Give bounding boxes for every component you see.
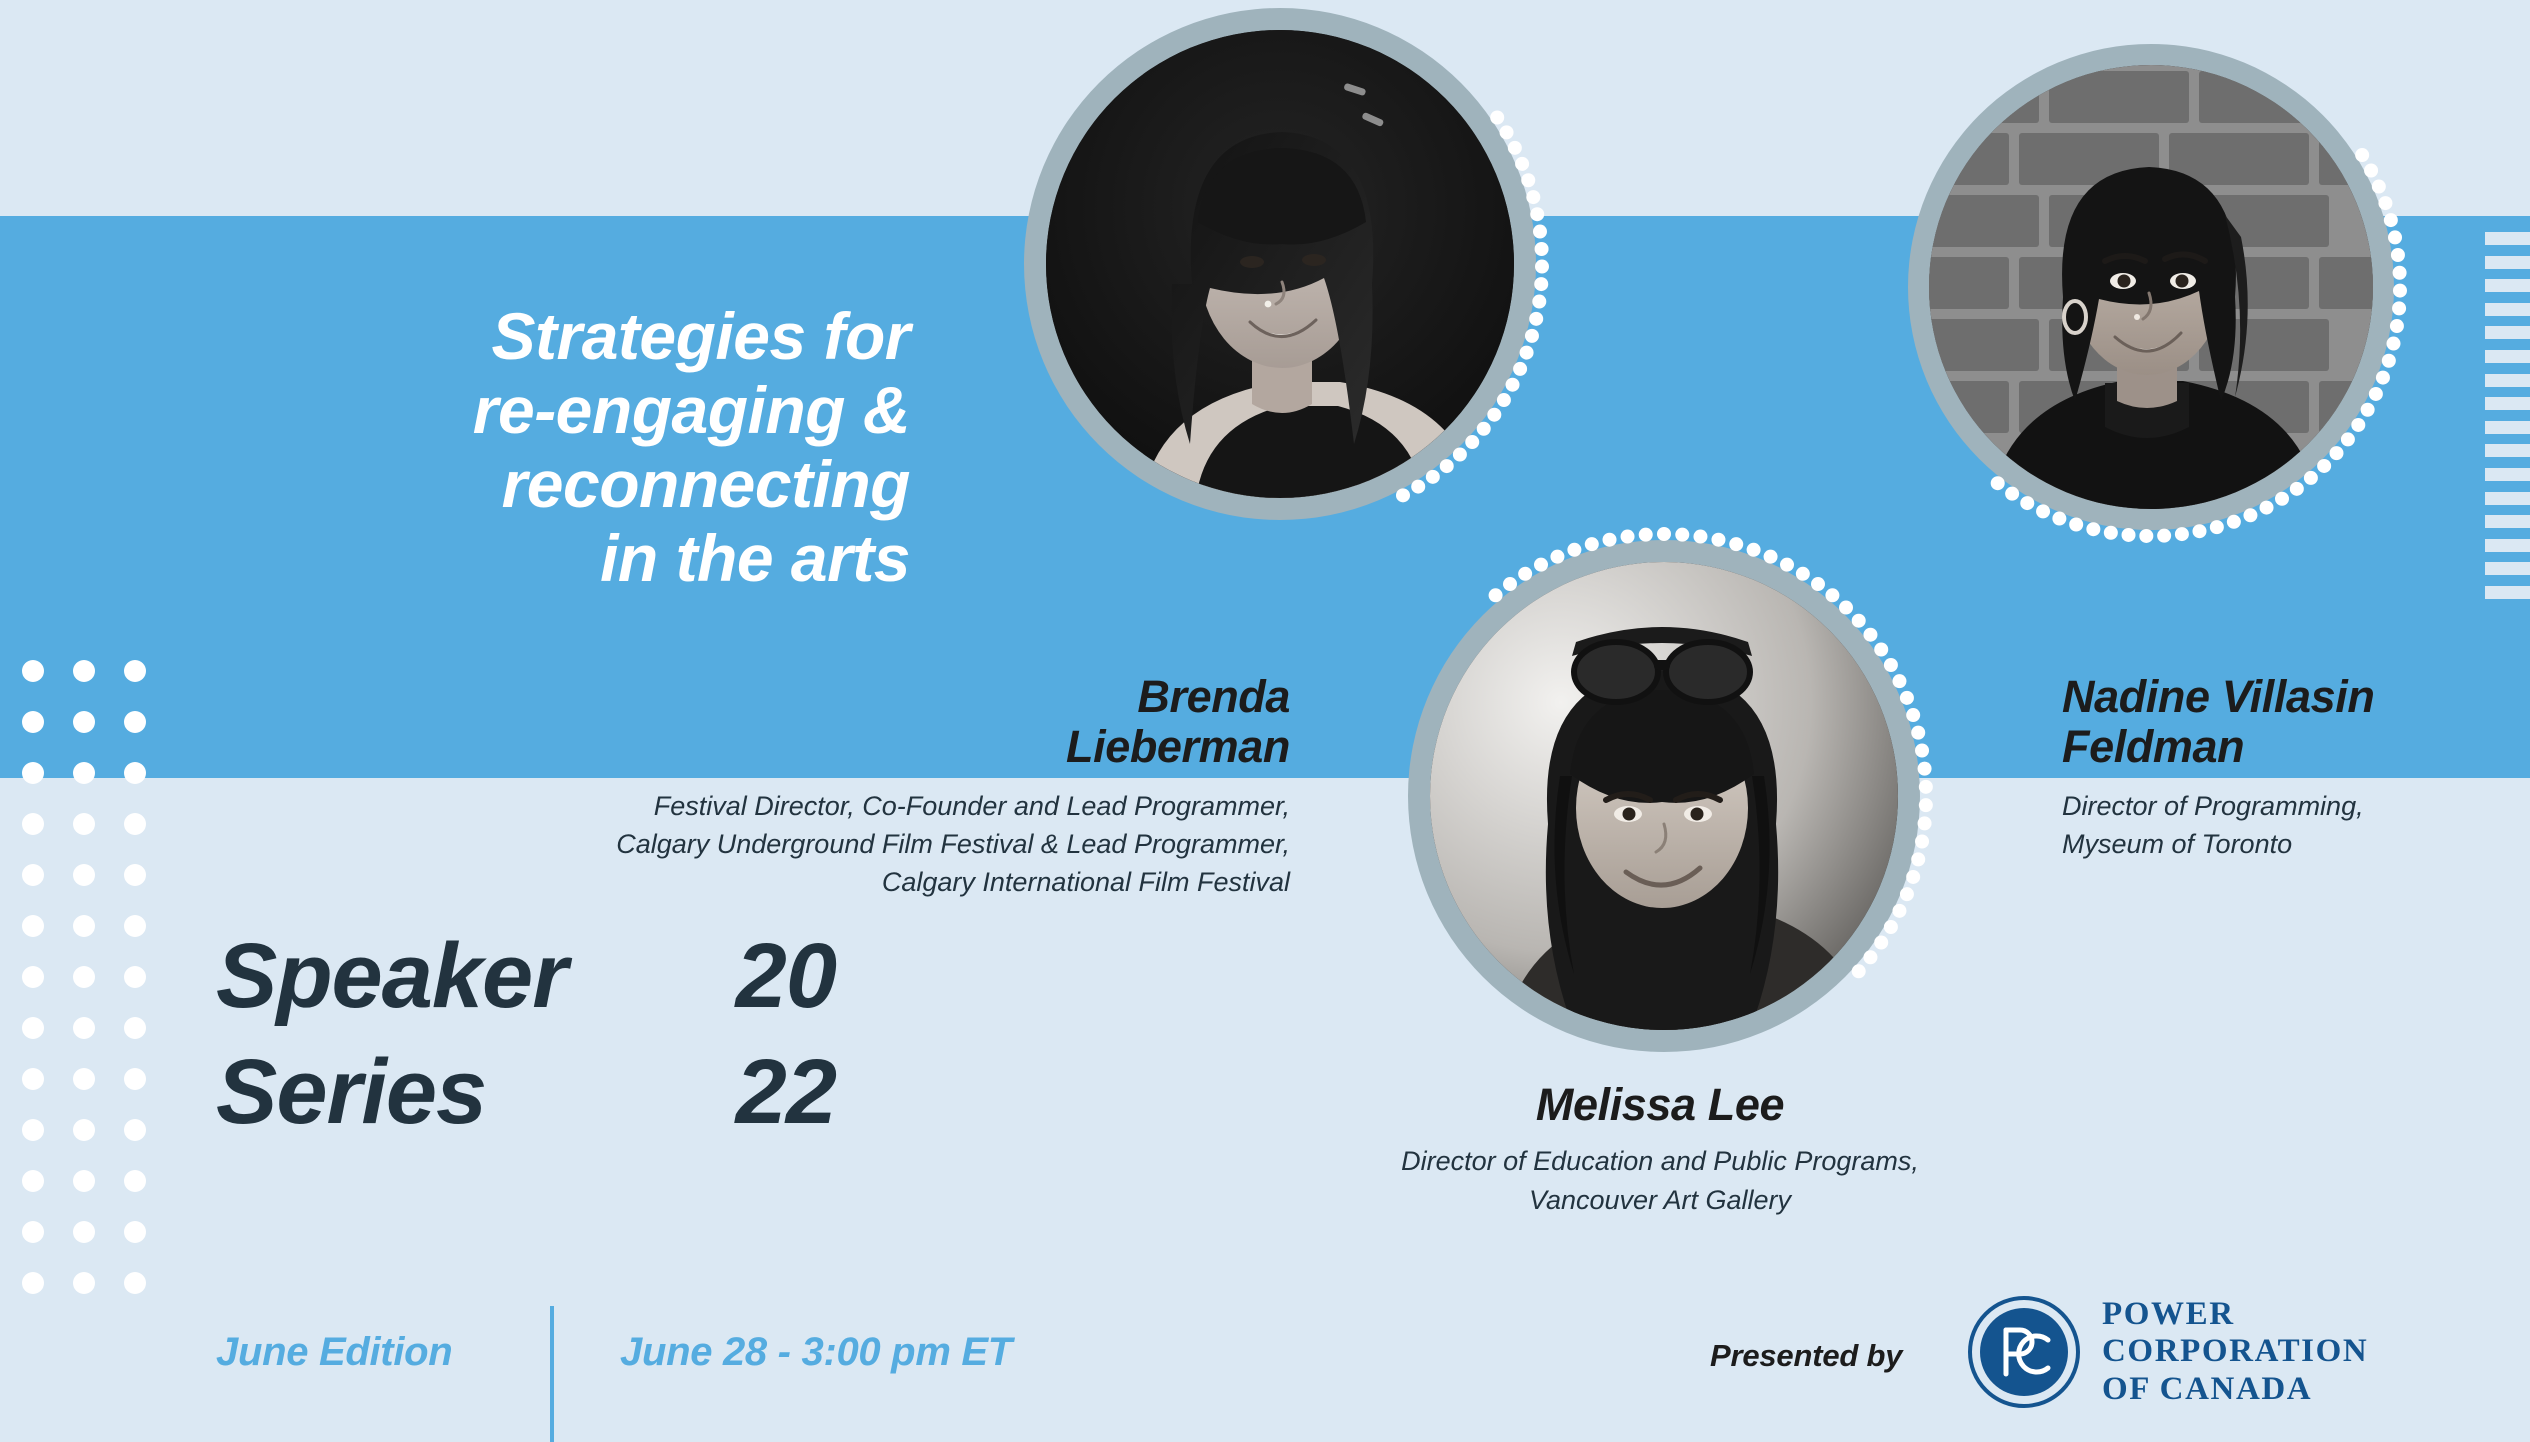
portrait-melissa-image bbox=[1430, 562, 1898, 1030]
arc-dot bbox=[1906, 870, 1920, 884]
grid-dot bbox=[73, 711, 95, 733]
grid-dot bbox=[73, 660, 95, 682]
arc-dot bbox=[1911, 852, 1925, 866]
speaker-name-melissa: Melissa Lee bbox=[1380, 1080, 1940, 1130]
grid-dot bbox=[22, 1170, 44, 1192]
power-corporation-logo: POWER CORPORATION OF CANADA bbox=[1968, 1296, 2368, 1408]
arc-dot bbox=[1521, 173, 1535, 187]
stripe-bar bbox=[2485, 397, 2530, 410]
grid-dot bbox=[124, 762, 146, 784]
edition-label: June Edition bbox=[216, 1330, 452, 1375]
headline-line-1: Strategies for bbox=[140, 300, 910, 374]
grid-dot bbox=[73, 915, 95, 937]
headline-line-2: re-engaging & bbox=[140, 374, 910, 448]
speaker-role-melissa: Director of Education and Public Program… bbox=[1380, 1142, 1940, 1219]
stripe-bar bbox=[2485, 232, 2530, 245]
grid-dot bbox=[124, 1068, 146, 1090]
grid-dot bbox=[124, 1272, 146, 1294]
grid-dot bbox=[22, 1119, 44, 1141]
poster-canvas: Strategies for re-engaging & reconnectin… bbox=[0, 0, 2530, 1442]
grid-dot bbox=[22, 711, 44, 733]
grid-dot bbox=[73, 762, 95, 784]
stripe-bar bbox=[2485, 539, 2530, 552]
grid-dot bbox=[22, 813, 44, 835]
series-year-second: 22 bbox=[636, 1046, 836, 1140]
grid-dot bbox=[124, 660, 146, 682]
grid-dot bbox=[73, 1221, 95, 1243]
arc-dot bbox=[1892, 904, 1906, 918]
arc-dot bbox=[1884, 920, 1898, 934]
grid-dot bbox=[22, 1221, 44, 1243]
speaker-series-title: Speaker 20 Series 22 bbox=[216, 930, 916, 1140]
headline-line-4: in the arts bbox=[140, 522, 910, 596]
grid-dot bbox=[22, 864, 44, 886]
grid-dot bbox=[22, 1272, 44, 1294]
speaker-block-brenda: Brenda Lieberman Festival Director, Co-F… bbox=[480, 672, 1290, 902]
arc-dot bbox=[1874, 936, 1888, 950]
grid-dot bbox=[73, 1119, 95, 1141]
portrait-melissa-lee bbox=[1408, 540, 1920, 1052]
arc-dot bbox=[2355, 148, 2369, 162]
speaker-role-nadine: Director of Programming, Myseum of Toron… bbox=[2062, 787, 2530, 864]
grid-dot bbox=[124, 1017, 146, 1039]
grid-dot bbox=[124, 864, 146, 886]
stripe-bar bbox=[2485, 279, 2530, 292]
grid-dot bbox=[73, 1170, 95, 1192]
stripe-bar bbox=[2485, 326, 2530, 339]
logo-line-2: CORPORATION bbox=[2102, 1333, 2368, 1370]
portrait-brenda-image bbox=[1046, 30, 1514, 498]
stripe-bar bbox=[2485, 562, 2530, 575]
stripe-bar bbox=[2485, 444, 2530, 457]
grid-dot bbox=[124, 1119, 146, 1141]
series-word-series: Series bbox=[216, 1046, 636, 1140]
grid-dot bbox=[22, 1017, 44, 1039]
arc-dot bbox=[1852, 964, 1866, 978]
speaker-role-brenda: Festival Director, Co-Founder and Lead P… bbox=[480, 787, 1290, 902]
event-datetime: June 28 - 3:00 pm ET bbox=[620, 1330, 1012, 1375]
dot-grid-decoration bbox=[22, 660, 142, 1360]
headline: Strategies for re-engaging & reconnectin… bbox=[140, 300, 910, 596]
grid-dot bbox=[124, 1221, 146, 1243]
arc-dot bbox=[1915, 834, 1929, 848]
grid-dot bbox=[22, 1068, 44, 1090]
stripe-bar bbox=[2485, 256, 2530, 269]
stripe-bar bbox=[2485, 515, 2530, 528]
grid-dot bbox=[22, 660, 44, 682]
grid-dot bbox=[73, 813, 95, 835]
arc-dot bbox=[2378, 196, 2392, 210]
stripe-decoration bbox=[2485, 232, 2530, 610]
stripe-bar bbox=[2485, 303, 2530, 316]
power-corporation-seal-icon bbox=[1968, 1296, 2080, 1408]
grid-dot bbox=[124, 966, 146, 988]
arc-dot bbox=[1919, 780, 1933, 794]
grid-dot bbox=[22, 966, 44, 988]
arc-dot bbox=[2372, 180, 2386, 194]
stripe-bar bbox=[2485, 492, 2530, 505]
speaker-name-nadine: Nadine Villasin Feldman bbox=[2062, 672, 2530, 773]
speaker-block-nadine: Nadine Villasin Feldman Director of Prog… bbox=[2062, 672, 2530, 863]
grid-dot bbox=[124, 1170, 146, 1192]
grid-dot bbox=[73, 1068, 95, 1090]
grid-dot bbox=[22, 762, 44, 784]
arc-dot bbox=[1490, 110, 1504, 124]
grid-dot bbox=[73, 864, 95, 886]
portrait-nadine-villasin-feldman bbox=[1908, 44, 2394, 530]
stripe-bar bbox=[2485, 421, 2530, 434]
arc-dot bbox=[1508, 141, 1522, 155]
grid-dot bbox=[73, 1272, 95, 1294]
grid-dot bbox=[124, 915, 146, 937]
stripe-bar bbox=[2485, 374, 2530, 387]
arc-dot bbox=[1919, 798, 1933, 812]
grid-dot bbox=[124, 711, 146, 733]
grid-dot bbox=[73, 966, 95, 988]
arc-dot bbox=[1863, 950, 1877, 964]
speaker-block-melissa: Melissa Lee Director of Education and Pu… bbox=[1380, 1080, 1940, 1219]
grid-dot bbox=[22, 915, 44, 937]
series-year-first: 20 bbox=[636, 930, 836, 1024]
arc-dot bbox=[1900, 887, 1914, 901]
headline-line-3: reconnecting bbox=[140, 448, 910, 522]
stripe-bar bbox=[2485, 586, 2530, 599]
series-word-speaker: Speaker bbox=[216, 930, 636, 1024]
presented-by-label: Presented by bbox=[1710, 1338, 1902, 1374]
logo-line-1: POWER bbox=[2102, 1296, 2368, 1333]
stripe-bar bbox=[2485, 350, 2530, 363]
arc-dot bbox=[1515, 157, 1529, 171]
stripe-bar bbox=[2485, 468, 2530, 481]
logo-line-3: OF CANADA bbox=[2102, 1371, 2368, 1408]
portrait-nadine-image bbox=[1929, 65, 2373, 509]
arc-dot bbox=[1526, 190, 1540, 204]
footer-divider bbox=[550, 1306, 554, 1442]
grid-dot bbox=[124, 813, 146, 835]
speaker-name-brenda: Brenda Lieberman bbox=[480, 672, 1290, 773]
portrait-brenda-lieberman bbox=[1024, 8, 1536, 520]
arc-dot bbox=[1500, 125, 1514, 139]
power-corporation-wordmark: POWER CORPORATION OF CANADA bbox=[2102, 1296, 2368, 1408]
arc-dot bbox=[1918, 816, 1932, 830]
grid-dot bbox=[73, 1017, 95, 1039]
arc-dot bbox=[2364, 163, 2378, 177]
